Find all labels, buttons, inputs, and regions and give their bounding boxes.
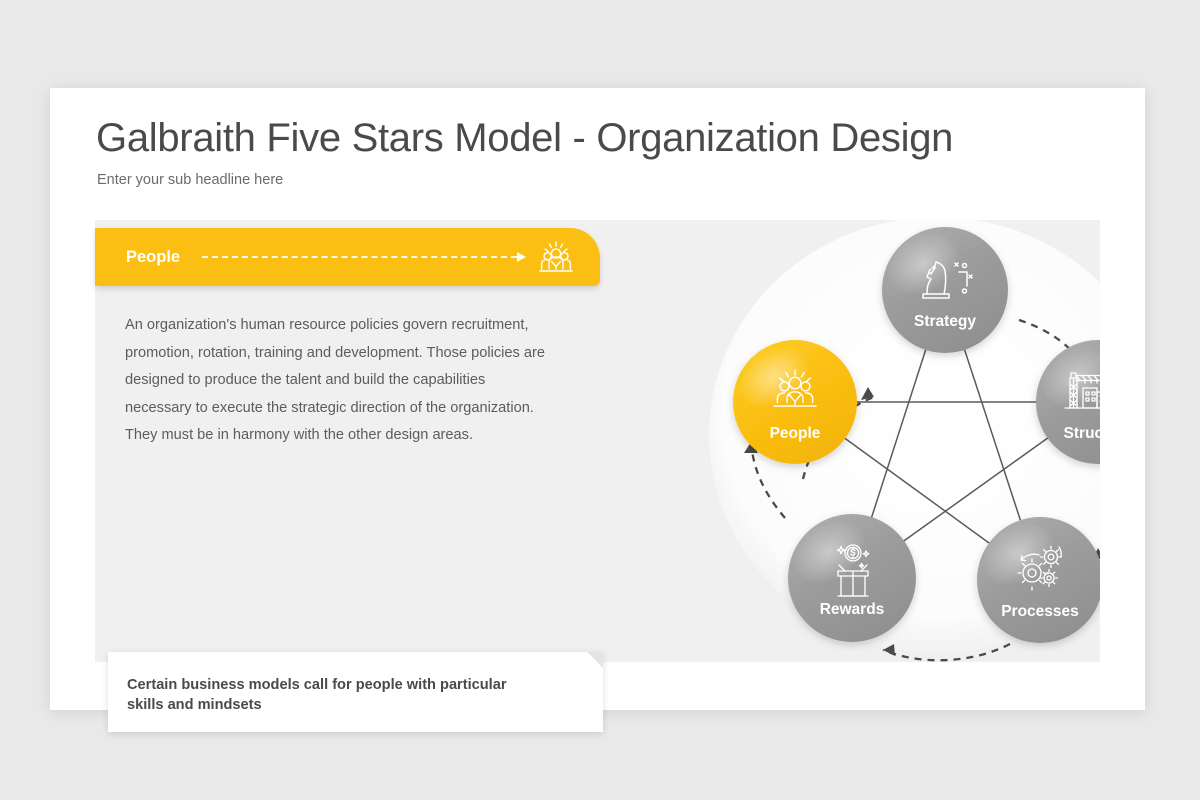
topic-banner-label: People xyxy=(126,248,180,267)
node-label-rewards: Rewards xyxy=(820,601,885,618)
callout-box: Certain business models call for people … xyxy=(108,652,603,732)
node-label-strategy: Strategy xyxy=(914,313,976,330)
diagram-svg: Strategy xyxy=(635,220,1100,662)
page-title: Galbraith Five Stars Model - Organizatio… xyxy=(96,116,953,161)
callout-text: Certain business models call for people … xyxy=(127,675,527,715)
topic-banner[interactable]: People xyxy=(95,228,600,286)
page-subtitle: Enter your sub headline here xyxy=(97,172,283,188)
slide-root: Galbraith Five Stars Model - Organizatio… xyxy=(0,0,1200,800)
people-group-icon xyxy=(538,240,574,274)
node-label-people: People xyxy=(770,425,821,442)
folded-corner-icon xyxy=(587,652,603,668)
dashed-arrow-right-icon xyxy=(202,252,526,262)
node-label-processes: Processes xyxy=(1001,603,1079,620)
node-label-structure: Structure xyxy=(1064,425,1100,442)
five-stars-diagram: Strategy xyxy=(635,220,1100,662)
content-panel: People xyxy=(95,220,1100,662)
body-paragraph: An organization's human resource policie… xyxy=(125,312,545,450)
slide-card: Galbraith Five Stars Model - Organizatio… xyxy=(50,88,1145,710)
